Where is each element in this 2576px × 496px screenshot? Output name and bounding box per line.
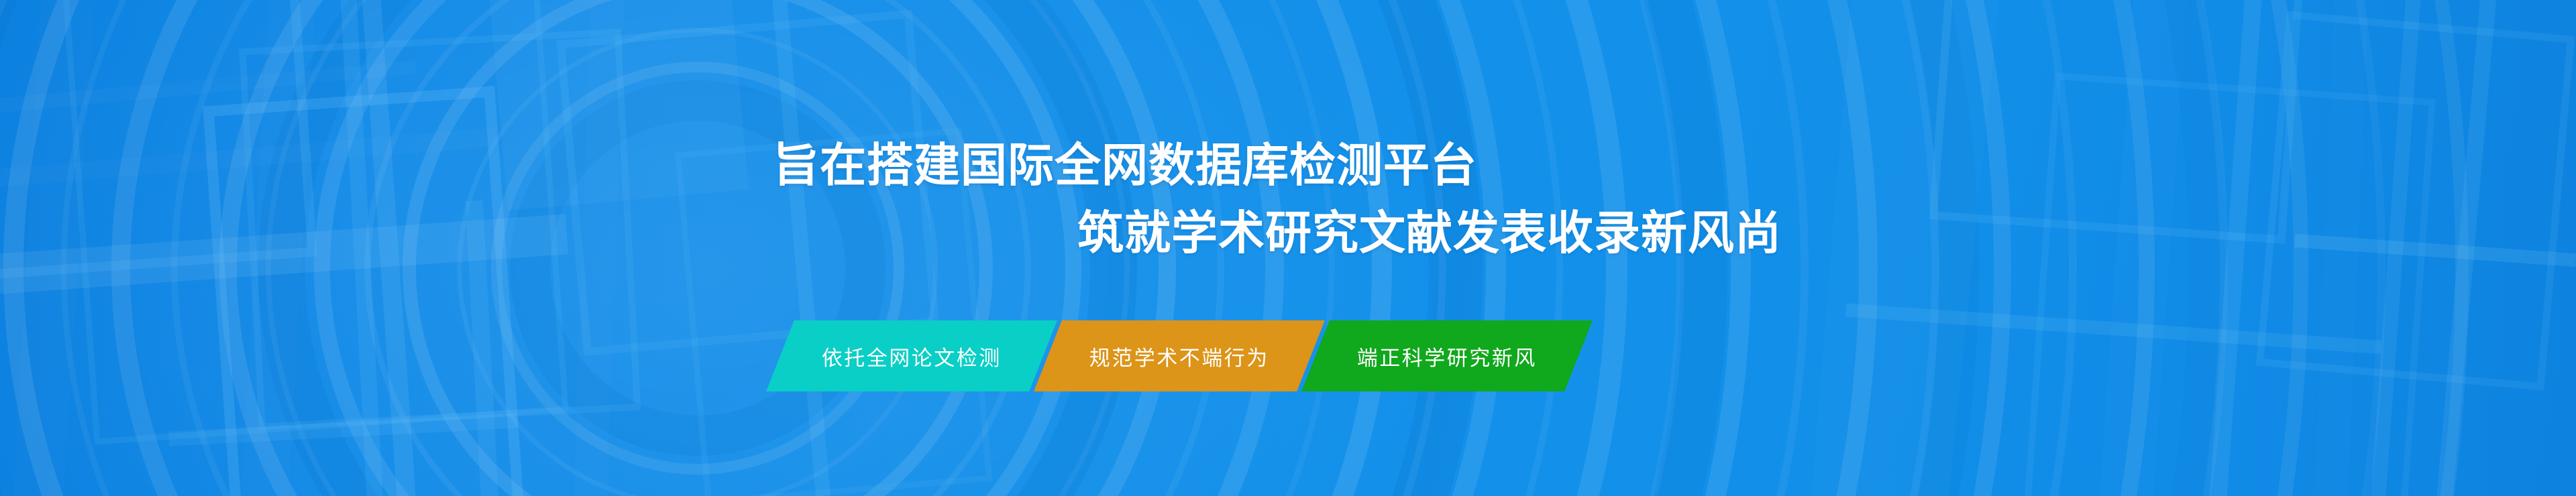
hero-banner: 旨在搭建国际全网数据库检测平台 筑就学术研究文献发表收录新风尚 依托全网论文检测… <box>0 0 2576 496</box>
feature-tag-strip: 依托全网论文检测 规范学术不端行为 端正科学研究新风 <box>780 320 1578 391</box>
feature-tag-0-label: 依托全网论文检测 <box>818 341 1006 371</box>
feature-tag-2[interactable]: 端正科学研究新风 <box>1301 320 1593 391</box>
feature-tag-2-label: 端正科学研究新风 <box>1353 341 1541 371</box>
headline-line-1: 旨在搭建国际全网数据库检测平台 <box>773 131 2576 199</box>
headline-line-2: 筑就学术研究文献发表收录新风尚 <box>1077 199 2576 267</box>
feature-tag-1-label: 规范学术不端行为 <box>1085 341 1273 371</box>
feature-tag-0[interactable]: 依托全网论文检测 <box>766 320 1057 391</box>
headline-block: 旨在搭建国际全网数据库检测平台 筑就学术研究文献发表收录新风尚 <box>0 131 2576 267</box>
feature-tag-1[interactable]: 规范学术不端行为 <box>1034 320 1325 391</box>
